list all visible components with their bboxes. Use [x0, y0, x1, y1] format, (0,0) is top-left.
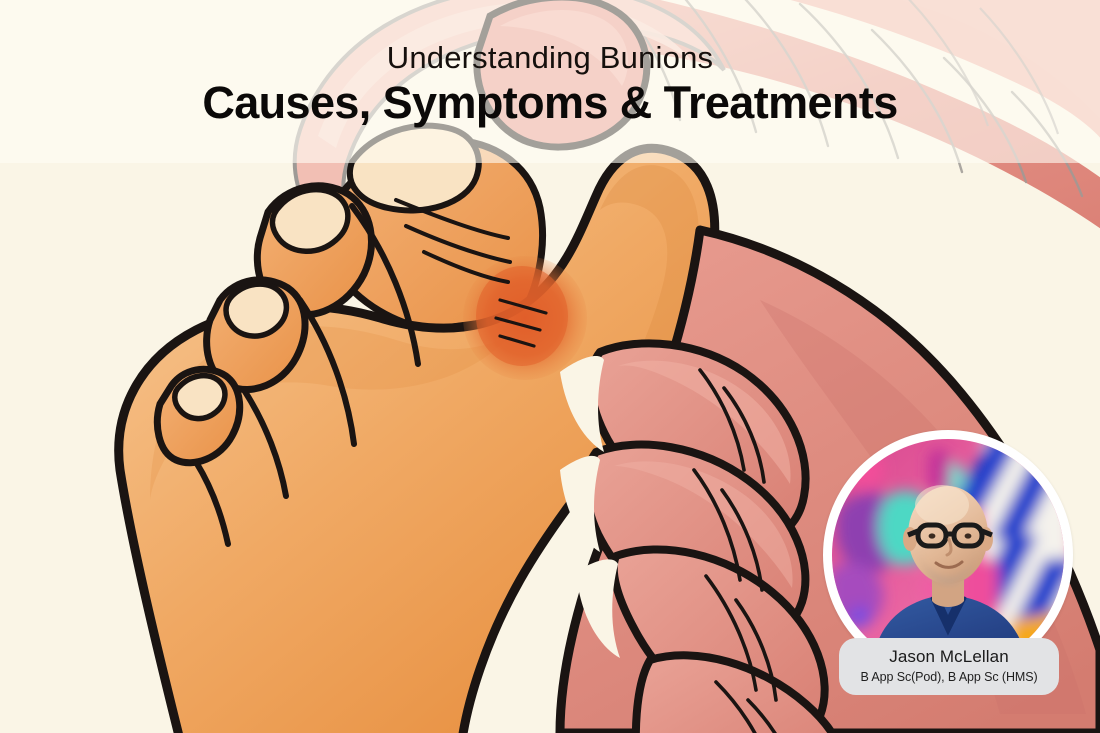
title-block: Understanding Bunions Causes, Symptoms &… — [0, 0, 1100, 163]
author-card[interactable]: JASON little BIG feet Jason McLellan B A… — [823, 430, 1075, 692]
article-hero-banner: Understanding Bunions Causes, Symptoms &… — [0, 0, 1100, 733]
page-title: Causes, Symptoms & Treatments — [202, 79, 897, 126]
author-name-badge: Jason McLellan B App Sc(Pod), B App Sc (… — [839, 638, 1059, 695]
eyebrow-text: Understanding Bunions — [387, 42, 713, 73]
avatar-photo: JASON little BIG feet — [832, 439, 1064, 671]
author-credentials: B App Sc(Pod), B App Sc (HMS) — [849, 669, 1049, 685]
author-name: Jason McLellan — [849, 647, 1049, 668]
